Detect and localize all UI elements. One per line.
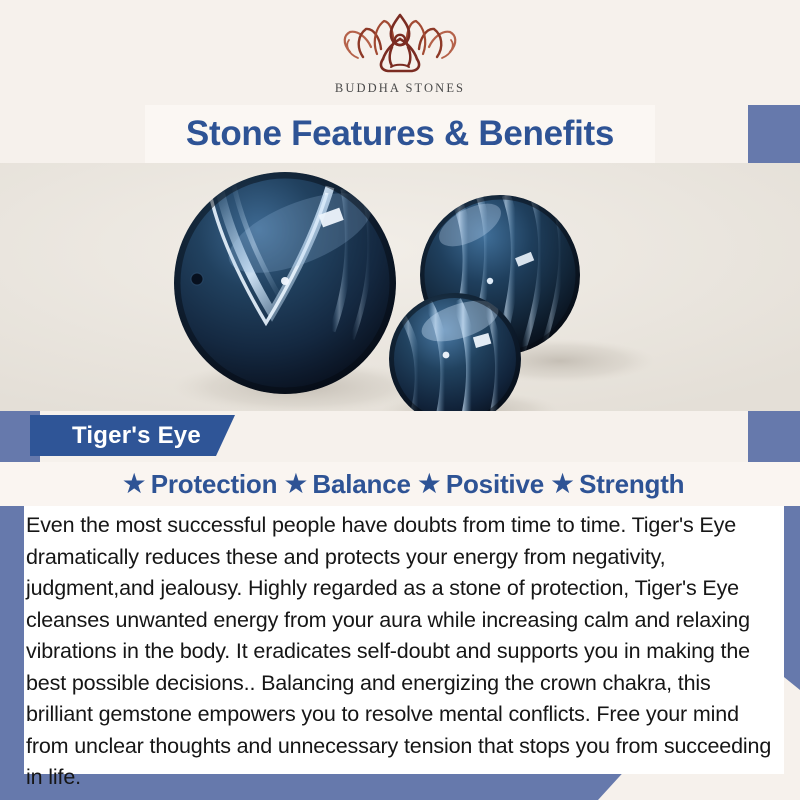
- star-icon: ★: [550, 470, 575, 498]
- stone-name-label: Tiger's Eye: [30, 422, 201, 450]
- brand-logo: BUDDHA STONES: [335, 9, 465, 96]
- status-badge: Tiger's Eye: [30, 415, 235, 456]
- brand-header: BUDDHA STONES: [0, 0, 800, 105]
- star-icon: ★: [417, 470, 442, 498]
- star-icon: ★: [283, 470, 308, 498]
- description-panel: Even the most successful people have dou…: [24, 506, 784, 774]
- blue-tigers-eye-spheres-photo: [0, 163, 800, 411]
- benefit-item-strength: ★ Strength: [544, 469, 684, 500]
- page-title-bar: Stone Features & Benefits: [145, 105, 655, 163]
- benefit-label: Balance: [312, 469, 410, 500]
- benefit-label: Positive: [446, 469, 544, 500]
- page-title: Stone Features & Benefits: [186, 114, 614, 154]
- benefit-item-protection: ★ Protection: [116, 469, 278, 500]
- benefit-item-balance: ★ Balance: [277, 469, 410, 500]
- benefits-row: ★ Protection ★ Balance ★ Positive ★ Stre…: [0, 462, 800, 506]
- description-text: Even the most successful people have dou…: [26, 510, 774, 794]
- benefit-label: Strength: [579, 469, 684, 500]
- benefit-item-positive: ★ Positive: [411, 469, 544, 500]
- benefit-label: Protection: [151, 469, 278, 500]
- brand-name: BUDDHA STONES: [335, 81, 465, 96]
- lotus-meditation-figure-icon: [336, 9, 464, 80]
- star-icon: ★: [122, 470, 147, 498]
